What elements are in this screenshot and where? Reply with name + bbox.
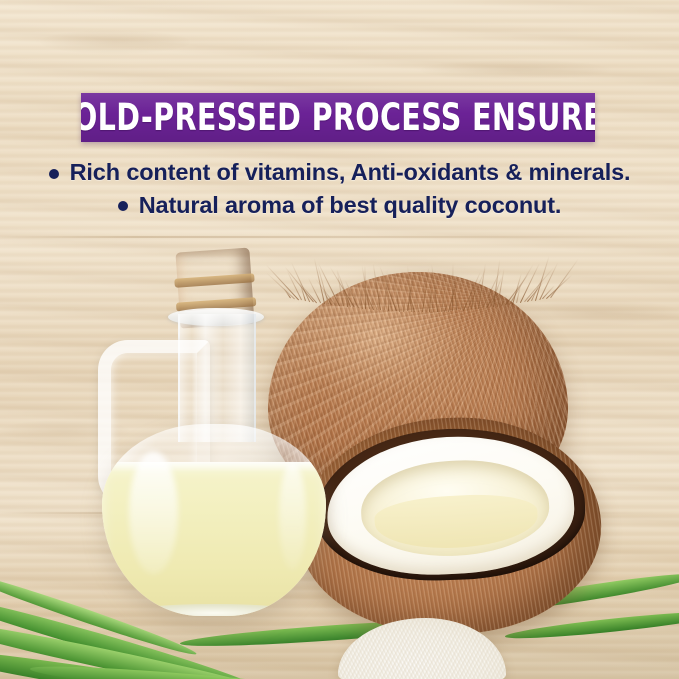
coconut-husk-hair xyxy=(403,296,406,312)
feature-bullet-list: Rich content of vitamins, Anti-oxidants … xyxy=(0,158,679,223)
coconut-husk-hair xyxy=(358,287,363,309)
bottle-base-reflection xyxy=(124,604,303,616)
coconut-husk-hair xyxy=(475,283,477,309)
glass-highlight xyxy=(279,462,306,570)
bullet-dot-icon xyxy=(49,169,59,179)
wood-plank-line xyxy=(0,236,679,238)
headline-text: COLD-PRESSED PROCESS ENSURES xyxy=(81,99,595,136)
headline-banner: COLD-PRESSED PROCESS ENSURES xyxy=(81,93,595,142)
product-feature-poster: COLD-PRESSED PROCESS ENSURES Rich conten… xyxy=(0,0,679,679)
shredded-coconut-texture xyxy=(338,618,506,679)
glass-highlight xyxy=(129,451,178,574)
shredded-coconut-pile xyxy=(338,618,506,679)
bullet-dot-icon xyxy=(118,201,128,211)
wood-grain-knot xyxy=(40,30,190,54)
feature-bullet-item: Rich content of vitamins, Anti-oxidants … xyxy=(0,158,679,187)
bottle-body xyxy=(102,424,326,616)
feature-bullet-item: Natural aroma of best quality coconut. xyxy=(0,191,679,220)
feature-bullet-text: Rich content of vitamins, Anti-oxidants … xyxy=(70,158,631,187)
half-coconut xyxy=(294,410,607,642)
coconut-husk-hair xyxy=(415,288,420,312)
cork-band xyxy=(174,273,254,288)
wood-grain-knot xyxy=(420,60,610,80)
oil-carafe xyxy=(96,248,332,620)
feature-bullet-text: Natural aroma of best quality coconut. xyxy=(139,191,562,220)
